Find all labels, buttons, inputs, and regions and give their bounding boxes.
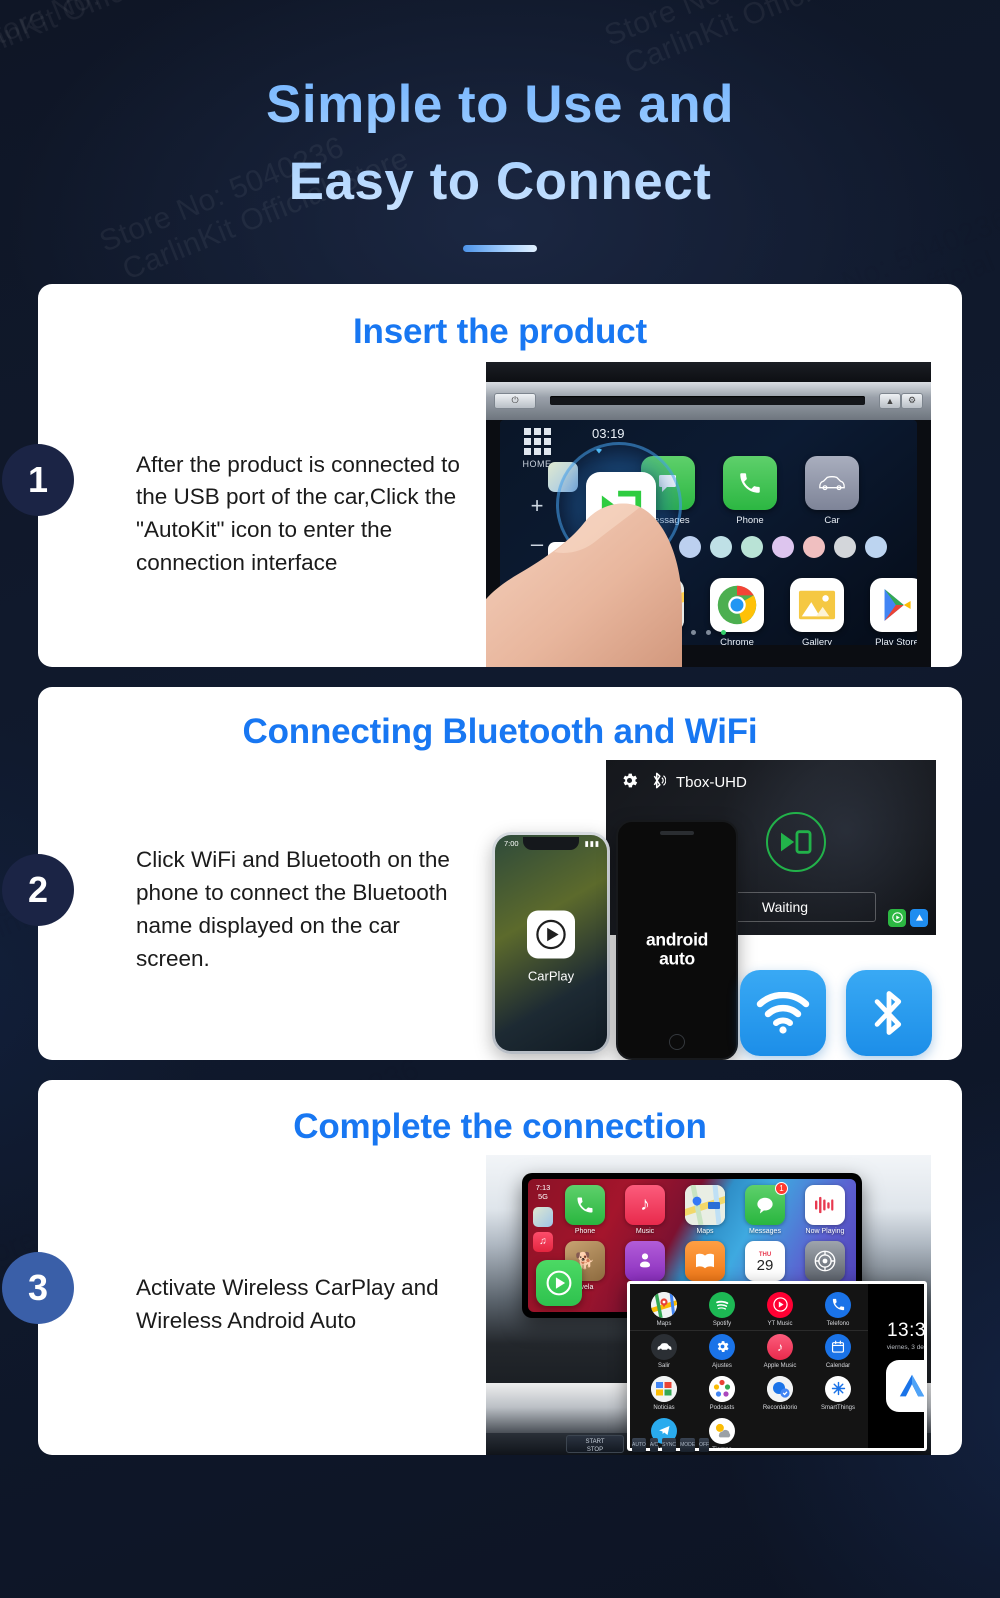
- page-header: Simple to Use and Easy to Connect: [0, 0, 1000, 252]
- step-card-2: Connecting Bluetooth and WiFi Click WiFi…: [38, 687, 962, 1060]
- aa-app-label: SmartThings: [814, 1405, 862, 1411]
- step-3-title: Complete the connection: [38, 1080, 962, 1155]
- tbox-header: Tbox-UHD: [606, 760, 936, 795]
- dock-download-icon[interactable]: [741, 536, 763, 558]
- android-device: android auto: [616, 820, 738, 1060]
- tbox-mini-icons: [888, 909, 928, 927]
- aa-app-maps[interactable]: Maps: [640, 1292, 688, 1327]
- carplay-sidebar-maps-icon[interactable]: [533, 1207, 553, 1227]
- iphone-screen[interactable]: 7:00 ▮▮▮ CarPlay: [495, 835, 607, 1051]
- android-auto-icon[interactable]: [886, 1360, 924, 1412]
- step-badge-3: 3: [2, 1252, 74, 1324]
- step-card-1: Insert the product After the product is …: [38, 284, 962, 667]
- android-auto-app-grid: Maps Spotify: [630, 1284, 868, 1448]
- step-1-title: Insert the product: [38, 284, 962, 362]
- podcasts-icon: [709, 1376, 735, 1402]
- aa-app-salir[interactable]: Salir: [640, 1334, 688, 1369]
- step-card-2-inner: Connecting Bluetooth and WiFi Click WiFi…: [38, 687, 962, 1060]
- aa-app-yt-music[interactable]: YT Music: [756, 1292, 804, 1327]
- head-unit-page-dots: [500, 622, 917, 640]
- smartthings-icon: [825, 1376, 851, 1402]
- step-card-3-inner: Complete the connection Activate Wireles…: [38, 1080, 962, 1455]
- calendar-icon: [825, 1334, 851, 1360]
- gear-icon[interactable]: [620, 771, 639, 795]
- dock-back-icon[interactable]: [679, 536, 701, 558]
- carplay-app-row-1: Phone ♪ Music: [562, 1185, 852, 1235]
- aa-app-label: YT Music: [756, 1321, 804, 1327]
- carplay-app-label: Maps: [682, 1228, 728, 1235]
- dock-location-icon[interactable]: [803, 536, 825, 558]
- aa-app-noticias[interactable]: Noticias: [640, 1376, 688, 1411]
- steps-container: Insert the product After the product is …: [0, 284, 1000, 1455]
- step-badge-1: 1: [2, 444, 74, 516]
- aa-app-spotify[interactable]: Spotify: [698, 1292, 746, 1327]
- android-auto-screen[interactable]: Maps Spotify: [627, 1281, 927, 1451]
- head-unit-app-car[interactable]: Car: [804, 456, 860, 526]
- aa-app-label: Telefono: [814, 1321, 862, 1327]
- spotify-icon: [709, 1292, 735, 1318]
- home-grid-icon[interactable]: [506, 428, 568, 455]
- autokit-icon[interactable]: [586, 472, 656, 542]
- messages-icon: 1: [745, 1185, 785, 1225]
- podcasts-icon: [625, 1241, 665, 1281]
- reminders-icon: [767, 1376, 793, 1402]
- autokit-icon[interactable]: [766, 812, 826, 872]
- carplay-icon: [527, 911, 575, 959]
- carplay-app-phone[interactable]: Phone: [562, 1185, 608, 1235]
- now-playing-icon: [805, 1185, 845, 1225]
- step-2-media: Tbox-UHD Waiting: [486, 760, 962, 1060]
- android-auto-clock-panel: ▾▴▮ 13:39 viernes, 3 de julio: [868, 1284, 924, 1448]
- head-unit-left-tiles: [548, 580, 578, 610]
- exit-car-icon: [651, 1334, 677, 1360]
- carplay-status-time: 7:13: [528, 1183, 558, 1192]
- dashboard-panel: 7:13 5G ♫: [486, 1155, 931, 1455]
- phone-icon: [565, 1185, 605, 1225]
- step-1-text: After the product is connected to the US…: [38, 449, 486, 580]
- bluetooth-icon: [649, 771, 666, 795]
- head-unit-clock: 03:19: [592, 426, 625, 441]
- aa-app-label: Podcasts: [698, 1405, 746, 1411]
- phone-icon: [825, 1292, 851, 1318]
- aa-app-label: Recordatorio: [756, 1405, 804, 1411]
- infographic-page: Store No: 5040236 CarlinKit Official Sto…: [0, 0, 1000, 1598]
- start-stop-line-1: START: [567, 1438, 623, 1446]
- android-earpiece: [660, 831, 694, 835]
- carplay-label: CarPlay: [527, 969, 575, 984]
- step-badge-number: 1: [28, 459, 48, 501]
- aa-app-label: Maps: [640, 1321, 688, 1327]
- step-2-title: Connecting Bluetooth and WiFi: [38, 687, 962, 760]
- carplay-app-label: Phone: [562, 1228, 608, 1235]
- page-dot[interactable]: [706, 630, 711, 635]
- aa-app-label: Spotify: [698, 1321, 746, 1327]
- android-auto-row-2: Salir Ajustes: [640, 1334, 862, 1369]
- aa-app-label: Salir: [640, 1363, 688, 1369]
- dock-calendar-icon[interactable]: [772, 536, 794, 558]
- dock-car-icon[interactable]: [834, 536, 856, 558]
- power-button[interactable]: ⏻: [494, 393, 536, 409]
- head-unit-app-label: Car: [804, 515, 860, 526]
- start-stop-button[interactable]: START STOP: [566, 1435, 624, 1453]
- carplay-mini-icon[interactable]: [888, 909, 906, 927]
- android-auto-date: viernes, 3 de julio: [887, 1344, 924, 1351]
- notification-badge: 1: [775, 1182, 788, 1195]
- phones-and-headunit-panel: Tbox-UHD Waiting: [486, 760, 936, 1060]
- aa-app-apple-music[interactable]: ♪ Apple Music: [756, 1334, 804, 1369]
- head-unit-bezel: [486, 362, 931, 382]
- settings-icon: [805, 1241, 845, 1281]
- head-unit-dock: [648, 536, 907, 558]
- step-3-text: Activate Wireless CarPlay and Wireless A…: [38, 1272, 486, 1338]
- bluetooth-icon: [869, 987, 909, 1039]
- wifi-icon: [756, 992, 810, 1034]
- audiobooks-icon: [685, 1241, 725, 1281]
- aa-app-label: Calendar: [814, 1363, 862, 1369]
- climate-button-mode[interactable]: MODE: [680, 1438, 695, 1452]
- step-1-body: After the product is connected to the US…: [38, 362, 962, 667]
- step-card-1-inner: Insert the product After the product is …: [38, 284, 962, 667]
- step-2-body: Click WiFi and Bluetooth on the phone to…: [38, 760, 962, 1060]
- aa-app-calendar[interactable]: Calendar: [814, 1334, 862, 1369]
- head-unit-screen[interactable]: HOME + – 03:19: [500, 420, 917, 645]
- step-card-3: Complete the connection Activate Wireles…: [38, 1080, 962, 1455]
- climate-button-sync[interactable]: SYNC: [662, 1438, 676, 1452]
- news-icon: [651, 1376, 677, 1402]
- phone-icon: [723, 456, 777, 510]
- connection-buttons: [740, 970, 932, 1056]
- android-auto-row-1: Maps Spotify: [640, 1292, 862, 1327]
- step-2-text: Click WiFi and Bluetooth on the phone to…: [38, 844, 486, 975]
- page-title-line-1: Simple to Use and: [0, 66, 1000, 143]
- head-unit-app-phone[interactable]: Phone: [722, 456, 778, 526]
- calendar-day-number: 29: [757, 1258, 774, 1273]
- climate-button-off[interactable]: OFF: [699, 1438, 709, 1452]
- maps-icon: [651, 1292, 677, 1318]
- yt-music-icon: [767, 1292, 793, 1318]
- carplay-status-network: 5G: [528, 1192, 558, 1201]
- android-auto-wordmark-line-1: android: [646, 931, 708, 949]
- android-auto-mini-icon[interactable]: [910, 909, 928, 927]
- aa-app-smartthings[interactable]: SmartThings: [814, 1376, 862, 1411]
- page-dot-active[interactable]: [721, 630, 726, 635]
- iphone-status-icons: ▮▮▮: [585, 839, 600, 848]
- step-1-media: ⏻ ▲ ⚙ HOME + –: [486, 362, 962, 667]
- carplay-launcher[interactable]: CarPlay: [527, 911, 575, 984]
- climate-button-ac[interactable]: A/C: [650, 1438, 658, 1452]
- tbox-device-name: Tbox-UHD: [676, 774, 747, 791]
- android-home-button[interactable]: [669, 1034, 685, 1050]
- android-auto-time: 13:39: [887, 1320, 924, 1342]
- carplay-app-maps[interactable]: Maps: [682, 1185, 728, 1235]
- carplay-app-label: Music: [622, 1228, 668, 1235]
- android-auto-wordmark-line-2: auto: [646, 949, 708, 967]
- android-auto-row-3: Noticias Podcasts: [640, 1376, 862, 1411]
- page-dot[interactable]: [691, 630, 696, 635]
- android-auto-wordmark: android auto: [646, 931, 708, 968]
- page-title-line-2: Easy to Connect: [0, 143, 1000, 220]
- step-3-body: Activate Wireless CarPlay and Wireless A…: [38, 1155, 962, 1455]
- iphone-notch: [523, 837, 579, 850]
- title-divider: [463, 245, 537, 252]
- disc-slot: [550, 396, 865, 405]
- calendar-icon: THU 29: [745, 1241, 785, 1281]
- carplay-sidebar-music-icon[interactable]: ♫: [533, 1232, 553, 1252]
- aa-app-podcasts[interactable]: Podcasts: [698, 1376, 746, 1411]
- aa-app-label: Ajustes: [698, 1363, 746, 1369]
- carplay-app-now-playing[interactable]: Now Playing: [802, 1185, 848, 1235]
- aa-app-telefono[interactable]: Telefono: [814, 1292, 862, 1327]
- climate-button-auto[interactable]: AUTO: [632, 1438, 646, 1452]
- iphone-status-time: 7:00: [504, 839, 519, 848]
- step-badge-number: 3: [28, 1267, 48, 1309]
- carplay-app-label: Now Playing: [802, 1228, 848, 1235]
- autokit-icon[interactable]: [536, 1260, 582, 1306]
- carplay-app-label: Messages: [742, 1228, 788, 1235]
- step-3-media: 7:13 5G ♫: [486, 1155, 962, 1455]
- settings-icon: [709, 1334, 735, 1360]
- wifi-button[interactable]: [740, 970, 826, 1056]
- page-title: Simple to Use and Easy to Connect: [0, 66, 1000, 221]
- dock-apps-icon[interactable]: [710, 536, 732, 558]
- carplay-app-grid: Phone ♪ Music: [562, 1185, 852, 1291]
- head-unit-app-label: Phone: [722, 515, 778, 526]
- weather-icon: [709, 1418, 735, 1444]
- settings-button[interactable]: ⚙: [901, 393, 923, 409]
- music-tile-small[interactable]: [548, 580, 578, 610]
- aa-app-label: Noticias: [640, 1405, 688, 1411]
- car-head-unit: ⏻ ▲ ⚙ HOME + –: [486, 362, 931, 667]
- android-auto-home: Maps Spotify: [630, 1284, 924, 1448]
- apple-music-icon: ♪: [767, 1334, 793, 1360]
- aa-app-label: Apple Music: [756, 1363, 804, 1369]
- carplay-app-music[interactable]: ♪ Music: [622, 1185, 668, 1235]
- head-unit-trim: ⏻ ▲ ⚙: [486, 382, 931, 420]
- iphone-device: 7:00 ▮▮▮ CarPlay: [492, 832, 610, 1054]
- carplay-app-messages[interactable]: 1 Messages: [742, 1185, 788, 1235]
- maps-icon: [685, 1185, 725, 1225]
- step-badge-2: 2: [2, 854, 74, 926]
- car-icon: [805, 456, 859, 510]
- dock-refresh-icon[interactable]: [865, 536, 887, 558]
- step-badge-number: 2: [28, 869, 48, 911]
- eject-button[interactable]: ▲: [879, 393, 901, 409]
- aa-app-recordatorio[interactable]: Recordatorio: [756, 1376, 804, 1411]
- aa-app-ajustes[interactable]: Ajustes: [698, 1334, 746, 1369]
- music-icon: ♪: [625, 1185, 665, 1225]
- start-stop-line-2: STOP: [567, 1446, 623, 1454]
- bluetooth-button[interactable]: [846, 970, 932, 1056]
